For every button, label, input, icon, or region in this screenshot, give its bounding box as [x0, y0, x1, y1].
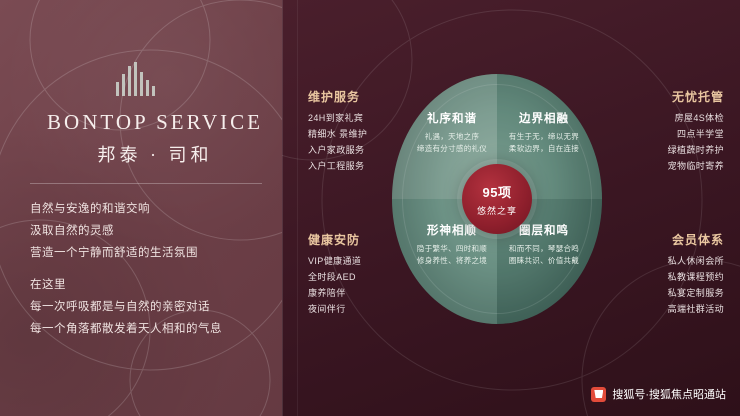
- desc-line-5: 每一次呼吸都是与自然的亲密对话: [30, 296, 280, 318]
- watermark-text: 搜狐号·搜狐焦点昭通站: [612, 386, 726, 402]
- category-list-membership: 私人休闲会所 私教课程预约 私宴定制服务 高端社群活动: [634, 253, 724, 317]
- brand-name-cn: 邦泰 · 司和: [30, 141, 280, 167]
- list-item: 四点半学堂: [634, 126, 724, 142]
- desc-line-1: 自然与安逸的和谐交响: [30, 198, 280, 220]
- list-item: 入户工程服务: [308, 158, 398, 174]
- watermark: 搜狐号·搜狐焦点昭通站: [591, 386, 726, 402]
- category-list-worryfree-custody: 房屋4S体检 四点半学堂 绿植蔬时养护 宠物临时寄养: [634, 110, 724, 174]
- divider-vertical-right: [297, 0, 298, 416]
- list-item: 高端社群活动: [634, 301, 724, 317]
- list-item: 精细水 景维护: [308, 126, 398, 142]
- list-item: VIP健康通道: [308, 253, 398, 269]
- slide-canvas: BONTOP SERVICE 邦泰 · 司和 自然与安逸的和谐交响 汲取自然的灵…: [0, 0, 740, 416]
- list-item: 康养陪伴: [308, 285, 398, 301]
- brand-panel: BONTOP SERVICE 邦泰 · 司和 自然与安逸的和谐交响 汲取自然的灵…: [30, 62, 280, 340]
- quadrant-sub-1: 隐于繁华、四时和顺: [404, 243, 500, 255]
- quadrant-sub-2: 缔造有分寸感的礼仪: [404, 143, 500, 155]
- desc-line-2: 汲取自然的灵感: [30, 220, 280, 242]
- desc-line-6: 每一个角落都散发着天人相和的气息: [30, 318, 280, 340]
- category-list-maintenance: 24H到家礼宾 精细水 景维护 入户家政服务 入户工程服务: [308, 110, 398, 174]
- category-list-health-security: VIP健康通道 全时段AED 康养陪伴 夜间伴行: [308, 253, 398, 317]
- list-item: 房屋4S体检: [634, 110, 724, 126]
- quadrant-sub-1: 有生于无，缔以无界: [496, 131, 592, 143]
- category-heading-health-security: 健康安防: [308, 231, 360, 248]
- quadrant-title: 礼序和谐: [404, 110, 500, 126]
- service-ellipse-diagram: 礼序和谐 礼遇，天地之序 缔造有分寸感的礼仪 边界相融 有生于无，缔以无界 柔软…: [392, 74, 602, 324]
- brand-divider: [30, 183, 262, 184]
- list-item: 绿植蔬时养护: [634, 142, 724, 158]
- brand-description: 自然与安逸的和谐交响 汲取自然的灵感 营造一个宁静而舒适的生活氛围 在这里 每一…: [30, 198, 280, 340]
- list-item: 夜间伴行: [308, 301, 398, 317]
- category-heading-membership: 会员体系: [634, 231, 724, 248]
- core-count: 95项: [483, 182, 512, 201]
- sound-bars-icon: [116, 62, 280, 96]
- list-item: 入户家政服务: [308, 142, 398, 158]
- category-heading-worryfree-custody: 无忧托管: [634, 88, 724, 105]
- quadrant-label-boundary-blend: 边界相融 有生于无，缔以无界 柔软边界，自在连接: [496, 110, 592, 155]
- category-heading-maintenance: 维护服务: [308, 88, 360, 105]
- list-item: 私宴定制服务: [634, 285, 724, 301]
- list-item: 私人休闲会所: [634, 253, 724, 269]
- desc-line-4: 在这里: [30, 274, 280, 296]
- desc-line-3: 营造一个宁静而舒适的生活氛围: [30, 242, 280, 264]
- brand-name-en: BONTOP SERVICE: [30, 110, 280, 135]
- diagram-core-badge: 95项 悠然之享: [462, 164, 532, 234]
- quadrant-label-ritual-order: 礼序和谐 礼遇，天地之序 缔造有分寸感的礼仪: [404, 110, 500, 155]
- sohu-logo-icon: [591, 387, 606, 402]
- list-item: 全时段AED: [308, 269, 398, 285]
- divider-vertical-left: [282, 0, 283, 416]
- list-item: 24H到家礼宾: [308, 110, 398, 126]
- core-label: 悠然之享: [477, 204, 517, 217]
- quadrant-sub-1: 礼遇，天地之序: [404, 131, 500, 143]
- quadrant-sub-2: 柔软边界，自在连接: [496, 143, 592, 155]
- quadrant-title: 边界相融: [496, 110, 592, 126]
- quadrant-sub-2: 修身养性、将养之境: [404, 255, 500, 267]
- quadrant-sub-1: 和而不同，琴瑟合鸣: [496, 243, 592, 255]
- list-item: 宠物临时寄养: [634, 158, 724, 174]
- list-item: 私教课程预约: [634, 269, 724, 285]
- quadrant-sub-2: 圈睐共识、价值共戴: [496, 255, 592, 267]
